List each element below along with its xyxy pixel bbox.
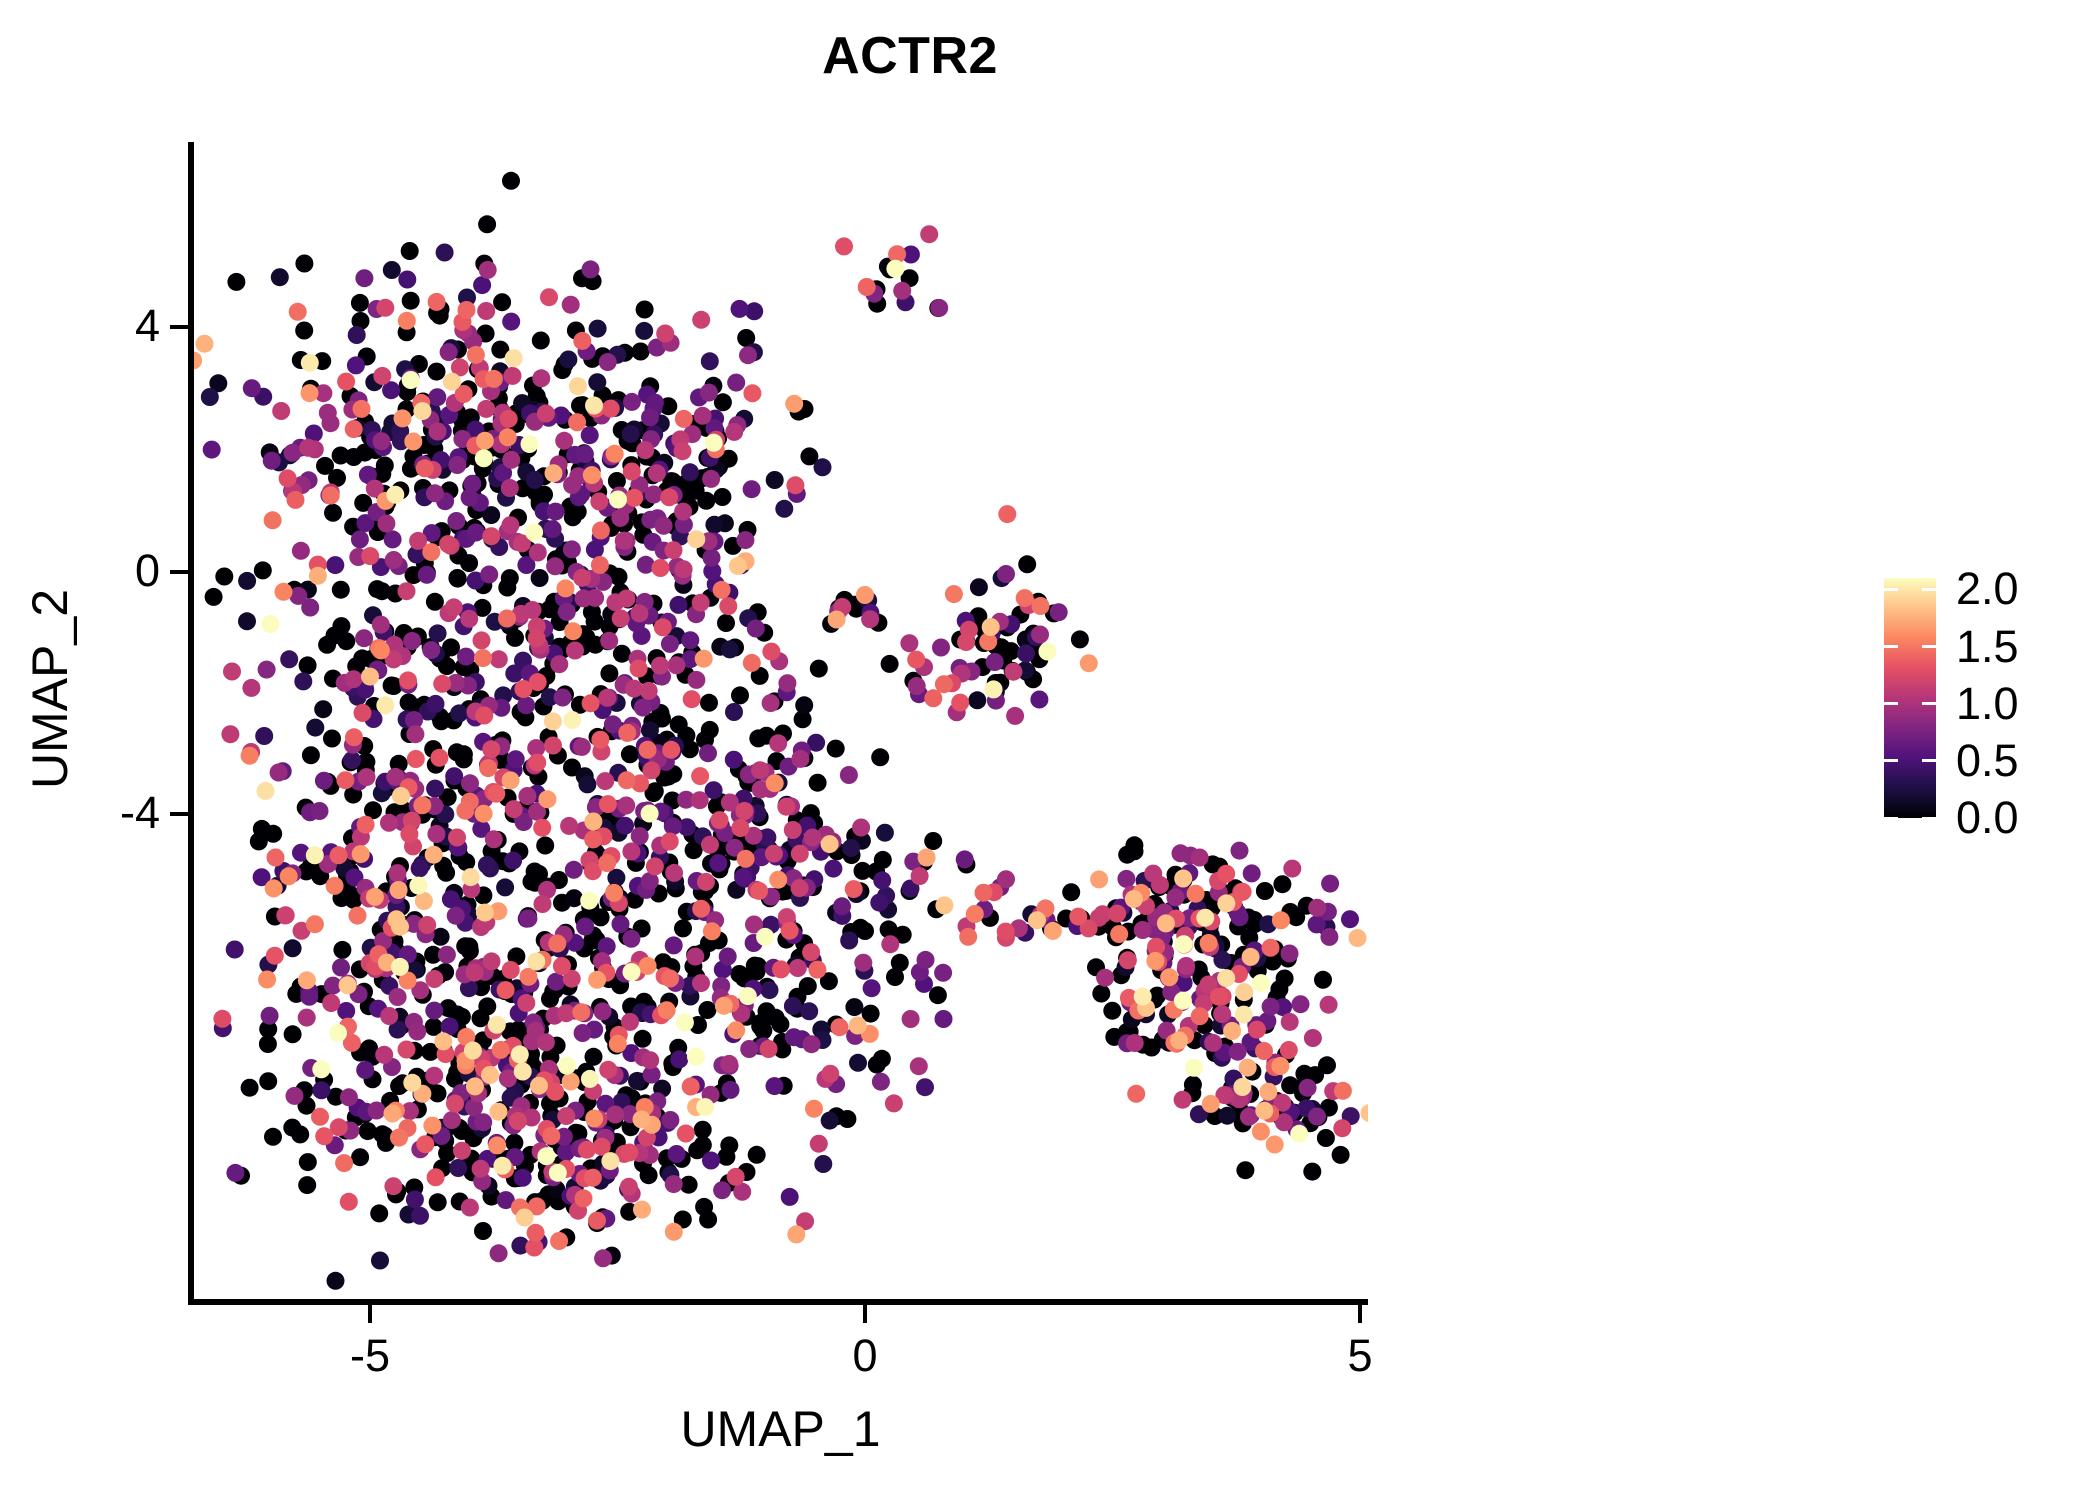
scatter-point — [332, 581, 350, 599]
scatter-point — [544, 712, 562, 730]
scatter-point — [373, 367, 391, 385]
scatter-point — [1308, 899, 1326, 917]
scatter-point — [428, 363, 446, 381]
scatter-point — [447, 907, 465, 925]
scatter-point — [681, 463, 699, 481]
scatter-point — [1018, 555, 1036, 573]
scatter-point — [743, 480, 761, 498]
scatter-point — [502, 313, 520, 331]
scatter-point — [284, 444, 302, 462]
scatter-point — [221, 725, 239, 743]
scatter-point — [345, 728, 363, 746]
scatter-point — [636, 441, 654, 459]
scatter-point — [496, 878, 514, 896]
scatter-point — [784, 821, 802, 839]
scatter-point — [691, 791, 709, 809]
scatter-point — [749, 729, 767, 747]
scatter-point — [517, 696, 535, 714]
scatter-point — [580, 892, 598, 910]
scatter-point — [821, 835, 839, 853]
scatter-point — [871, 748, 889, 766]
scatter-point — [385, 551, 403, 569]
scatter-point — [781, 1188, 799, 1206]
scatter-point — [731, 686, 749, 704]
scatter-point — [537, 405, 555, 423]
scatter-point — [518, 787, 536, 805]
scatter-point — [376, 299, 394, 317]
colorbar-tick-label: 2.0 — [1956, 566, 2086, 611]
scatter-point — [569, 377, 587, 395]
scatter-point — [280, 650, 298, 668]
scatter-point — [583, 466, 601, 484]
scatter-point — [1031, 626, 1049, 644]
scatter-point — [550, 655, 568, 673]
scatter-point — [911, 867, 929, 885]
scatter-point — [446, 1095, 464, 1113]
scatter-point — [849, 1017, 867, 1035]
scatter-point — [383, 677, 401, 695]
scatter-point — [696, 1098, 714, 1116]
scatter-point — [368, 1102, 386, 1120]
scatter-point — [715, 997, 733, 1015]
scatter-point — [1280, 1041, 1298, 1059]
scatter-point — [694, 407, 712, 425]
scatter-point — [1125, 836, 1143, 854]
scatter-point — [786, 476, 804, 494]
scatter-point — [507, 750, 525, 768]
scatter-point — [373, 432, 391, 450]
scatter-point — [575, 1189, 593, 1207]
scatter-point — [694, 1121, 712, 1139]
scatter-point — [511, 1045, 529, 1063]
scatter-point — [1160, 968, 1178, 986]
scatter-point — [475, 449, 493, 467]
scatter-point — [612, 915, 630, 933]
scatter-point — [564, 622, 582, 640]
scatter-point — [1217, 894, 1235, 912]
scatter-point — [582, 260, 600, 278]
scatter-point — [736, 531, 754, 549]
scatter-point — [766, 1077, 784, 1095]
scatter-point — [1069, 908, 1087, 926]
scatter-point — [370, 1204, 388, 1222]
scatter-point — [1341, 910, 1359, 928]
scatter-point — [411, 859, 429, 877]
scatter-point — [697, 873, 715, 891]
scatter-point — [299, 1153, 317, 1171]
scatter-point — [1191, 1007, 1209, 1025]
scatter-point — [223, 663, 241, 681]
scatter-point — [661, 833, 679, 851]
scatter-point — [501, 479, 519, 497]
scatter-point — [418, 916, 436, 934]
scatter-point — [1320, 928, 1338, 946]
scatter-point — [828, 611, 846, 629]
scatter-point — [257, 782, 275, 800]
colorbar-tick-mark — [1884, 702, 1898, 705]
scatter-point — [213, 1010, 231, 1028]
scatter-point — [743, 384, 761, 402]
scatter-point — [474, 1222, 492, 1240]
scatter-point — [695, 650, 713, 668]
scatter-point — [418, 566, 436, 584]
scatter-point — [391, 958, 409, 976]
scatter-point — [530, 1077, 548, 1095]
scatter-point — [1332, 1146, 1350, 1164]
scatter-point — [335, 1154, 353, 1172]
scatter-point — [1204, 1034, 1222, 1052]
scatter-point — [427, 825, 445, 843]
scatter-point — [326, 556, 344, 574]
scatter-point — [719, 597, 737, 615]
scatter-point — [372, 616, 390, 634]
scatter-point — [340, 1088, 358, 1106]
scatter-point — [298, 971, 316, 989]
x-axis-label: UMAP_1 — [193, 1400, 1368, 1458]
y-axis-line — [188, 142, 194, 1305]
scatter-point — [639, 957, 657, 975]
scatter-point — [416, 459, 434, 477]
scatter-point — [488, 1136, 506, 1154]
scatter-point — [384, 1105, 402, 1123]
scatter-point — [354, 704, 372, 722]
scatter-point — [315, 772, 333, 790]
scatter-point — [957, 633, 975, 651]
scatter-point — [438, 946, 456, 964]
scatter-point — [255, 727, 273, 745]
scatter-point — [433, 675, 451, 693]
scatter-point — [464, 1042, 482, 1060]
scatter-point — [330, 846, 348, 864]
scatter-point — [299, 656, 317, 674]
scatter-point — [475, 707, 493, 725]
scatter-point — [531, 569, 549, 587]
scatter-point — [1259, 1083, 1277, 1101]
scatter-point — [477, 302, 495, 320]
scatter-point — [682, 1078, 700, 1096]
scatter-point — [674, 442, 692, 460]
scatter-point — [318, 636, 336, 654]
scatter-point — [323, 730, 341, 748]
scatter-point — [1287, 908, 1305, 926]
scatter-point — [1266, 1136, 1284, 1154]
scatter-point — [388, 864, 406, 882]
scatter-point — [357, 816, 375, 834]
scatter-point — [863, 979, 881, 997]
scatter-point — [908, 677, 926, 695]
scatter-point — [1290, 1125, 1308, 1143]
scatter-point — [425, 1002, 443, 1020]
scatter-point — [514, 1063, 532, 1081]
scatter-point — [461, 1199, 479, 1217]
scatter-point — [694, 1136, 712, 1154]
scatter-point — [427, 695, 445, 713]
scatter-point — [590, 493, 608, 511]
scatter-point — [1273, 875, 1291, 893]
scatter-point — [760, 1040, 778, 1058]
scatter-point — [319, 404, 337, 422]
scatter-point — [596, 772, 614, 790]
scatter-point — [633, 1110, 651, 1128]
scatter-point — [1231, 842, 1249, 860]
scatter-point — [270, 764, 288, 782]
scatter-point — [355, 629, 373, 647]
scatter-point — [475, 805, 493, 823]
scatter-point — [661, 635, 679, 653]
scatter-point — [407, 750, 425, 768]
scatter-point — [840, 766, 858, 784]
scatter-point — [514, 680, 532, 698]
scatter-point — [336, 771, 354, 789]
scatter-point — [634, 1030, 652, 1048]
scatter-point — [205, 588, 223, 606]
scatter-point — [902, 1010, 920, 1028]
scatter-point — [279, 469, 297, 487]
scatter-point — [803, 1035, 821, 1053]
scatter-point — [785, 395, 803, 413]
scatter-point — [1213, 1005, 1231, 1023]
scatter-point — [951, 694, 969, 712]
scatter-point — [891, 954, 909, 972]
scatter-point — [856, 922, 874, 940]
scatter-point — [932, 639, 950, 657]
scatter-point — [428, 293, 446, 311]
scatter-point — [777, 798, 795, 816]
scatter-point — [665, 541, 683, 559]
scatter-point — [332, 447, 350, 465]
scatter-point — [719, 948, 737, 966]
scatter-point — [703, 922, 721, 940]
scatter-point — [713, 581, 731, 599]
scatter-point — [674, 503, 692, 521]
y-tick-label: 4 — [40, 300, 160, 352]
scatter-point — [549, 1164, 567, 1182]
scatter-point — [598, 689, 616, 707]
scatter-point — [277, 906, 295, 924]
scatter-point — [651, 559, 669, 577]
scatter-point — [348, 326, 366, 344]
scatter-point — [429, 624, 447, 642]
scatter-point — [1119, 951, 1137, 969]
scatter-point — [1202, 1095, 1220, 1113]
scatter-point — [358, 768, 376, 786]
scatter-point — [267, 849, 285, 867]
scatter-point — [651, 657, 669, 675]
scatter-point — [1151, 876, 1169, 894]
scatter-point — [254, 561, 272, 579]
scatter-point — [502, 771, 520, 789]
scatter-point — [215, 568, 233, 586]
scatter-point — [985, 680, 1003, 698]
scatter-point — [482, 527, 500, 545]
scatter-point — [1134, 921, 1152, 939]
scatter-point — [564, 508, 582, 526]
scatter-point — [322, 487, 340, 505]
scatter-point — [821, 1112, 839, 1130]
scatter-point — [641, 721, 659, 739]
scatter-point — [425, 846, 443, 864]
scatter-point — [808, 961, 826, 979]
scatter-point — [398, 271, 416, 289]
scatter-point — [545, 464, 563, 482]
scatter-point — [502, 451, 520, 469]
scatter-point — [546, 1083, 564, 1101]
scatter-point — [750, 882, 768, 900]
scatter-point — [423, 1117, 441, 1135]
scatter-point — [458, 301, 476, 319]
scatter-point — [1092, 985, 1110, 1003]
scatter-point — [687, 530, 705, 548]
scatter-point — [873, 871, 891, 889]
scatter-point — [259, 1035, 277, 1053]
scatter-point — [670, 1050, 688, 1068]
scatter-point — [415, 892, 433, 910]
scatter-point — [434, 1032, 452, 1050]
scatter-point — [400, 825, 418, 843]
scatter-point — [641, 1051, 659, 1069]
y-tick-mark — [170, 812, 188, 816]
scatter-point — [380, 1007, 398, 1025]
scatter-point — [398, 582, 416, 600]
scatter-point — [443, 1111, 461, 1129]
scatter-point — [677, 1125, 695, 1143]
scatter-point — [477, 400, 495, 418]
scatter-point — [1191, 849, 1209, 867]
scatter-point — [581, 1070, 599, 1088]
scatter-point — [550, 1232, 568, 1250]
scatter-point — [821, 1065, 839, 1083]
scatter-point — [361, 547, 379, 565]
scatter-point — [827, 740, 845, 758]
scatter-point — [625, 489, 643, 507]
scatter-point — [557, 1107, 575, 1125]
scatter-point — [1303, 1163, 1321, 1181]
scatter-point — [893, 282, 911, 300]
scatter-point — [929, 986, 947, 1004]
scatter-point — [598, 854, 616, 872]
scatter-point — [740, 1040, 758, 1058]
scatter-point — [804, 829, 822, 847]
scatter-point — [658, 1001, 676, 1019]
scatter-point — [337, 632, 355, 650]
scatter-point — [529, 544, 547, 562]
scatter-point — [482, 740, 500, 758]
scatter-point — [1062, 883, 1080, 901]
scatter-point — [516, 1209, 534, 1227]
scatter-point — [623, 463, 641, 481]
scatter-point — [519, 910, 537, 928]
scatter-point — [670, 596, 688, 614]
scatter-point — [613, 645, 631, 663]
x-axis-line — [188, 1299, 1368, 1305]
scatter-point — [1349, 929, 1367, 947]
scatter-point — [661, 1111, 679, 1129]
scatter-point — [1196, 909, 1214, 927]
scatter-point — [725, 703, 743, 721]
scatter-point — [771, 1015, 789, 1033]
scatter-point — [400, 694, 418, 712]
scatter-point — [1044, 922, 1062, 940]
scatter-point — [730, 965, 748, 983]
scatter-point — [425, 1067, 443, 1085]
scatter-point — [998, 505, 1016, 523]
scatter-point — [622, 425, 640, 443]
scatter-point — [711, 811, 729, 829]
scatter-point — [674, 919, 692, 937]
scatter-point — [1243, 864, 1261, 882]
scatter-point — [683, 690, 701, 708]
scatter-point — [735, 802, 753, 820]
scatter-point — [337, 373, 355, 391]
scatter-point — [1235, 983, 1253, 1001]
scatter-point — [986, 653, 1004, 671]
scatter-point — [527, 953, 545, 971]
scatter-point — [1126, 1034, 1144, 1052]
scatter-point — [448, 829, 466, 847]
scatter-point — [588, 1212, 606, 1230]
scatter-point — [692, 594, 710, 612]
scatter-point — [1217, 969, 1235, 987]
scatter-point — [1110, 925, 1128, 943]
scatter-point — [618, 724, 636, 742]
scatter-point — [705, 434, 723, 452]
scatter-point — [398, 312, 416, 330]
scatter-point — [306, 915, 324, 933]
scatter-point — [769, 734, 787, 752]
scatter-point — [389, 988, 407, 1006]
scatter-point — [371, 1252, 389, 1270]
scatter-point — [1235, 1006, 1253, 1024]
scatter-point — [881, 935, 899, 953]
x-tick-label: -5 — [310, 1330, 430, 1382]
scatter-point — [620, 1178, 638, 1196]
scatter-point — [616, 817, 634, 835]
scatter-point — [527, 1224, 545, 1242]
scatter-point — [687, 1048, 705, 1066]
scatter-point — [505, 665, 523, 683]
scatter-point — [1071, 630, 1089, 648]
scatter-point — [467, 346, 485, 364]
scatter-point — [935, 675, 953, 693]
scatter-point — [605, 884, 623, 902]
colorbar-tick-label: 1.0 — [1956, 681, 2086, 726]
scatter-point — [456, 802, 474, 820]
scatter-point — [476, 904, 494, 922]
scatter-point — [377, 515, 395, 533]
scatter-point — [284, 939, 302, 957]
scatter-point — [460, 610, 478, 628]
scatter-point — [521, 435, 539, 453]
scatter-point — [448, 569, 466, 587]
scatter-point — [528, 629, 546, 647]
scatter-point — [422, 543, 440, 561]
scatter-point — [392, 787, 410, 805]
scatter-point — [1262, 998, 1280, 1016]
scatter-point — [1108, 905, 1126, 923]
scatter-point — [1281, 945, 1299, 963]
scatter-point — [910, 1057, 928, 1075]
scatter-point — [402, 371, 420, 389]
scatter-point — [447, 512, 465, 530]
scatter-point — [785, 1028, 803, 1046]
scatter-point — [1166, 888, 1184, 906]
scatter-point — [1308, 1108, 1326, 1126]
scatter-point — [578, 1141, 596, 1159]
y-tick-mark — [170, 325, 188, 329]
scatter-point — [681, 631, 699, 649]
scatter-point — [1157, 914, 1175, 932]
scatter-point — [301, 384, 319, 402]
